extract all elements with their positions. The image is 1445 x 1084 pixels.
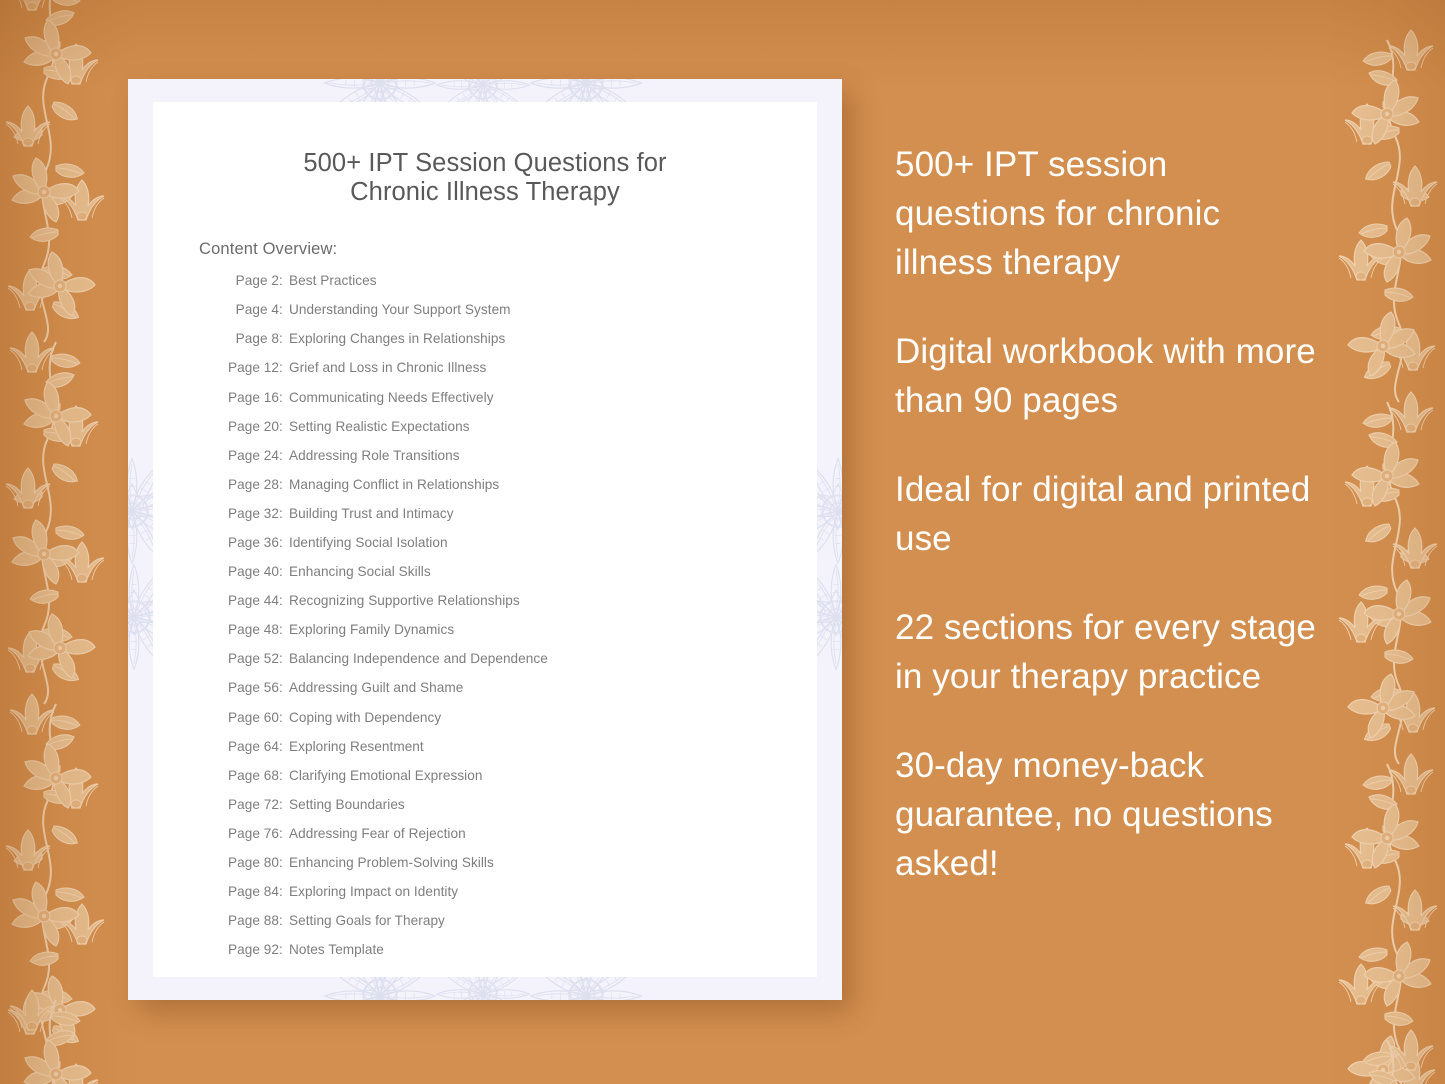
toc-section-label: Coping with Dependency [289,710,441,725]
table-of-contents-row[interactable]: Page 84:Exploring Impact on Identity [223,884,817,913]
toc-page-number: Page 32 [223,506,279,521]
toc-section-label: Best Practices [289,273,377,288]
toc-page-number: Page 52 [223,651,279,666]
marketing-bullet: Ideal for digital and printed use [895,465,1325,563]
table-of-contents-row[interactable]: Page 52:Balancing Independence and Depen… [223,651,817,680]
toc-page-number: Page 20 [223,419,279,434]
table-of-contents-row[interactable]: Page 88:Setting Goals for Therapy [223,913,817,942]
toc-separator: : [279,390,289,405]
table-of-contents-row[interactable]: Page 40:Enhancing Social Skills [223,564,817,593]
toc-page-number: Page 4 [223,302,279,317]
toc-section-label: Enhancing Problem-Solving Skills [289,855,494,870]
toc-separator: : [279,360,289,375]
background-vignette-top [0,0,1445,90]
table-of-contents-row[interactable]: Page 68:Clarifying Emotional Expression [223,768,817,797]
toc-page-number: Page 44 [223,593,279,608]
toc-section-label: Addressing Role Transitions [289,448,460,463]
content-overview-label: Content Overview: [199,240,817,259]
toc-section-label: Setting Boundaries [289,797,405,812]
toc-page-number: Page 48 [223,622,279,637]
toc-page-number: Page 92 [223,942,279,957]
table-of-contents-row[interactable]: Page 92:Notes Template [223,942,817,971]
toc-section-label: Clarifying Emotional Expression [289,768,482,783]
document-page: 500+ IPT Session Questions for Chronic I… [153,102,817,977]
table-of-contents-row[interactable]: Page 56:Addressing Guilt and Shame [223,680,817,709]
table-of-contents-row[interactable]: Page 72:Setting Boundaries [223,797,817,826]
toc-page-number: Page 80 [223,855,279,870]
marketing-bullet: 22 sections for every stage in your ther… [895,603,1325,701]
marketing-bullet-list: 500+ IPT session questions for chronic i… [895,140,1325,888]
toc-section-label: Communicating Needs Effectively [289,390,494,405]
toc-section-label: Exploring Changes in Relationships [289,331,505,346]
toc-page-number: Page 8 [223,331,279,346]
toc-separator: : [279,826,289,841]
marketing-bullet: Digital workbook with more than 90 pages [895,327,1325,425]
marketing-bullet: 30-day money-back guarantee, no question… [895,741,1325,888]
toc-page-number: Page 2 [223,273,279,288]
toc-section-label: Recognizing Supportive Relationships [289,593,520,608]
table-of-contents-row[interactable]: Page 36:Identifying Social Isolation [223,535,817,564]
toc-section-label: Identifying Social Isolation [289,535,448,550]
background-vignette-left [0,0,140,1084]
toc-page-number: Page 76 [223,826,279,841]
table-of-contents-row[interactable]: Page 80:Enhancing Problem-Solving Skills [223,855,817,884]
toc-separator: : [279,739,289,754]
toc-section-label: Enhancing Social Skills [289,564,431,579]
toc-section-label: Exploring Family Dynamics [289,622,454,637]
toc-section-label: Setting Goals for Therapy [289,913,445,928]
toc-separator: : [279,593,289,608]
toc-page-number: Page 12 [223,360,279,375]
table-of-contents-row[interactable]: Page 64:Exploring Resentment [223,739,817,768]
toc-separator: : [279,651,289,666]
toc-separator: : [279,942,289,957]
toc-separator: : [279,855,289,870]
toc-page-number: Page 72 [223,797,279,812]
table-of-contents-row[interactable]: Page 4:Understanding Your Support System [223,302,817,331]
table-of-contents-list: Page 2:Best PracticesPage 4:Understandin… [223,273,817,971]
floral-vine-pattern-left-icon [0,0,144,1084]
toc-section-label: Notes Template [289,942,384,957]
toc-separator: : [279,302,289,317]
toc-separator: : [279,506,289,521]
table-of-contents-row[interactable]: Page 8:Exploring Changes in Relationship… [223,331,817,360]
toc-separator: : [279,884,289,899]
table-of-contents-row[interactable]: Page 12:Grief and Loss in Chronic Illnes… [223,360,817,389]
background-vignette-right [1325,0,1445,1084]
toc-separator: : [279,535,289,550]
toc-section-label: Building Trust and Intimacy [289,506,454,521]
toc-separator: : [279,680,289,695]
table-of-contents-row[interactable]: Page 48:Exploring Family Dynamics [223,622,817,651]
toc-separator: : [279,331,289,346]
table-of-contents-row[interactable]: Page 44:Recognizing Supportive Relations… [223,593,817,622]
toc-page-number: Page 24 [223,448,279,463]
toc-separator: : [279,768,289,783]
toc-section-label: Balancing Independence and Dependence [289,651,548,666]
toc-page-number: Page 64 [223,739,279,754]
toc-page-number: Page 40 [223,564,279,579]
toc-page-number: Page 68 [223,768,279,783]
table-of-contents-row[interactable]: Page 28:Managing Conflict in Relationshi… [223,477,817,506]
table-of-contents-row[interactable]: Page 24:Addressing Role Transitions [223,448,817,477]
toc-page-number: Page 88 [223,913,279,928]
toc-separator: : [279,477,289,492]
toc-page-number: Page 16 [223,390,279,405]
toc-page-number: Page 84 [223,884,279,899]
toc-separator: : [279,622,289,637]
toc-separator: : [279,913,289,928]
toc-separator: : [279,710,289,725]
page-title: 500+ IPT Session Questions for Chronic I… [153,149,817,207]
toc-section-label: Understanding Your Support System [289,302,511,317]
toc-section-label: Addressing Guilt and Shame [289,680,463,695]
marketing-bullet: 500+ IPT session questions for chronic i… [895,140,1325,287]
table-of-contents-row[interactable]: Page 32:Building Trust and Intimacy [223,506,817,535]
table-of-contents-row[interactable]: Page 16:Communicating Needs Effectively [223,390,817,419]
table-of-contents-row[interactable]: Page 76:Addressing Fear of Rejection [223,826,817,855]
document-preview-card[interactable]: 500+ IPT Session Questions for Chronic I… [128,79,842,1000]
toc-separator: : [279,273,289,288]
toc-page-number: Page 60 [223,710,279,725]
toc-page-number: Page 36 [223,535,279,550]
toc-page-number: Page 56 [223,680,279,695]
toc-section-label: Managing Conflict in Relationships [289,477,499,492]
toc-section-label: Grief and Loss in Chronic Illness [289,360,486,375]
toc-separator: : [279,448,289,463]
toc-section-label: Exploring Resentment [289,739,424,754]
table-of-contents-row[interactable]: Page 2:Best Practices [223,273,817,302]
toc-section-label: Exploring Impact on Identity [289,884,458,899]
toc-page-number: Page 28 [223,477,279,492]
toc-separator: : [279,564,289,579]
toc-section-label: Setting Realistic Expectations [289,419,470,434]
toc-separator: : [279,419,289,434]
table-of-contents-row[interactable]: Page 20:Setting Realistic Expectations [223,419,817,448]
toc-section-label: Addressing Fear of Rejection [289,826,466,841]
table-of-contents-row[interactable]: Page 60:Coping with Dependency [223,710,817,739]
toc-separator: : [279,797,289,812]
